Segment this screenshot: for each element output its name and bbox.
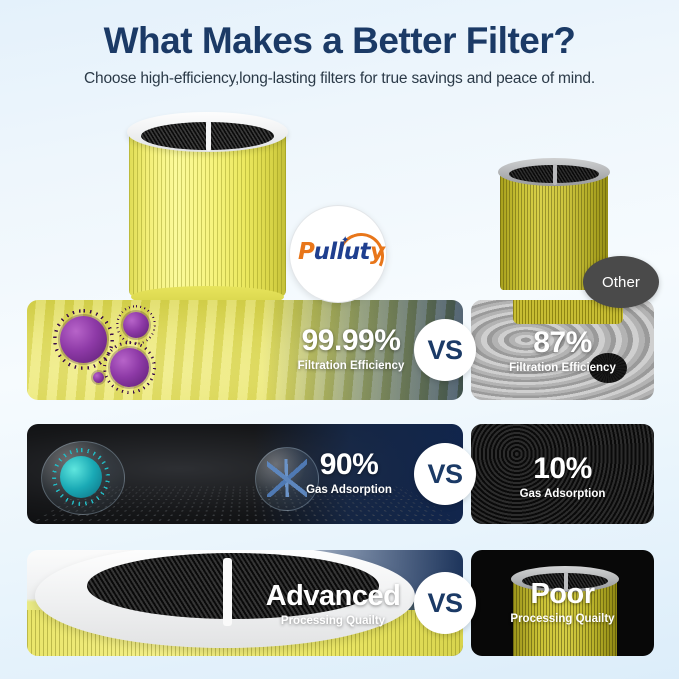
virus-spikes-icon xyxy=(116,305,156,345)
other-panel-quality: Poor Processing Quailty xyxy=(471,550,654,656)
vs-label: VS xyxy=(427,459,462,490)
virus-particle-icon xyxy=(123,312,149,338)
other-filter-top-rim xyxy=(498,158,610,186)
stat-value: 10% xyxy=(471,454,654,484)
teal-virus-spikes-icon xyxy=(52,448,110,506)
virus-particle-icon xyxy=(93,372,104,383)
vs-badge-filtration: VS xyxy=(414,319,476,381)
comparison-row-processing-quality: Advanced Processing Quailty Poor Process… xyxy=(27,550,654,656)
virus-particle-icon xyxy=(60,316,107,363)
stat-other-filtration: 87% Filtration Efficiency xyxy=(471,328,654,375)
other-filter-handle-bar xyxy=(553,164,557,185)
brand-logo-text: Pulluty xyxy=(298,239,384,265)
pulluty-panel-quality: Advanced Processing Quailty xyxy=(27,550,463,656)
vs-label: VS xyxy=(427,335,462,366)
stat-label: Gas Adsorption xyxy=(471,487,654,501)
stat-other-gas: 10% Gas Adsorption xyxy=(471,454,654,501)
virus-spikes-icon xyxy=(103,341,156,394)
brand-logo-mark: ✦ Pulluty xyxy=(295,234,381,274)
other-badge-label: Other xyxy=(602,274,640,291)
stat-label: Processing Quailty xyxy=(471,612,654,626)
page-subtitle: Choose high-efficiency,long-lasting filt… xyxy=(0,61,679,88)
filter-pleated-body xyxy=(129,130,286,296)
other-panel-filtration: 87% Filtration Efficiency xyxy=(471,300,654,400)
comparison-row-gas-adsorption: 90% Gas Adsorption 10% Gas Adsorption xyxy=(27,424,654,524)
teal-virus-icon xyxy=(60,456,102,498)
page-title: What Makes a Better Filter? xyxy=(0,0,679,61)
pulluty-panel-filtration: 99.99% Filtration Efficiency xyxy=(27,300,463,400)
brand-logo-badge: ✦ Pulluty xyxy=(289,205,387,303)
stat-value: 87% xyxy=(471,328,654,358)
pulluty-panel-gas: 90% Gas Adsorption xyxy=(27,424,463,524)
logo-letters-middle: ullut xyxy=(313,239,370,265)
logo-letter-p: P xyxy=(298,239,313,265)
other-brand-badge: Other xyxy=(583,256,659,308)
header: What Makes a Better Filter? Choose high-… xyxy=(0,0,679,100)
stat-value: Poor xyxy=(471,580,654,609)
filter-handle-bar xyxy=(206,121,211,151)
pulluty-filter-image xyxy=(129,108,286,304)
comparison-row-filtration-efficiency: 99.99% Filtration Efficiency 87% Filtrat… xyxy=(27,300,654,400)
stat-other-quality: Poor Processing Quailty xyxy=(471,580,654,626)
stat-label: Filtration Efficiency xyxy=(471,361,654,375)
vs-label: VS xyxy=(427,588,462,619)
filter-top-rim xyxy=(127,112,288,152)
vs-badge-quality: VS xyxy=(414,572,476,634)
logo-letter-y: y xyxy=(370,239,384,265)
vs-badge-gas: VS xyxy=(414,443,476,505)
virus-particle-icon xyxy=(110,348,149,387)
other-panel-gas: 10% Gas Adsorption xyxy=(471,424,654,524)
